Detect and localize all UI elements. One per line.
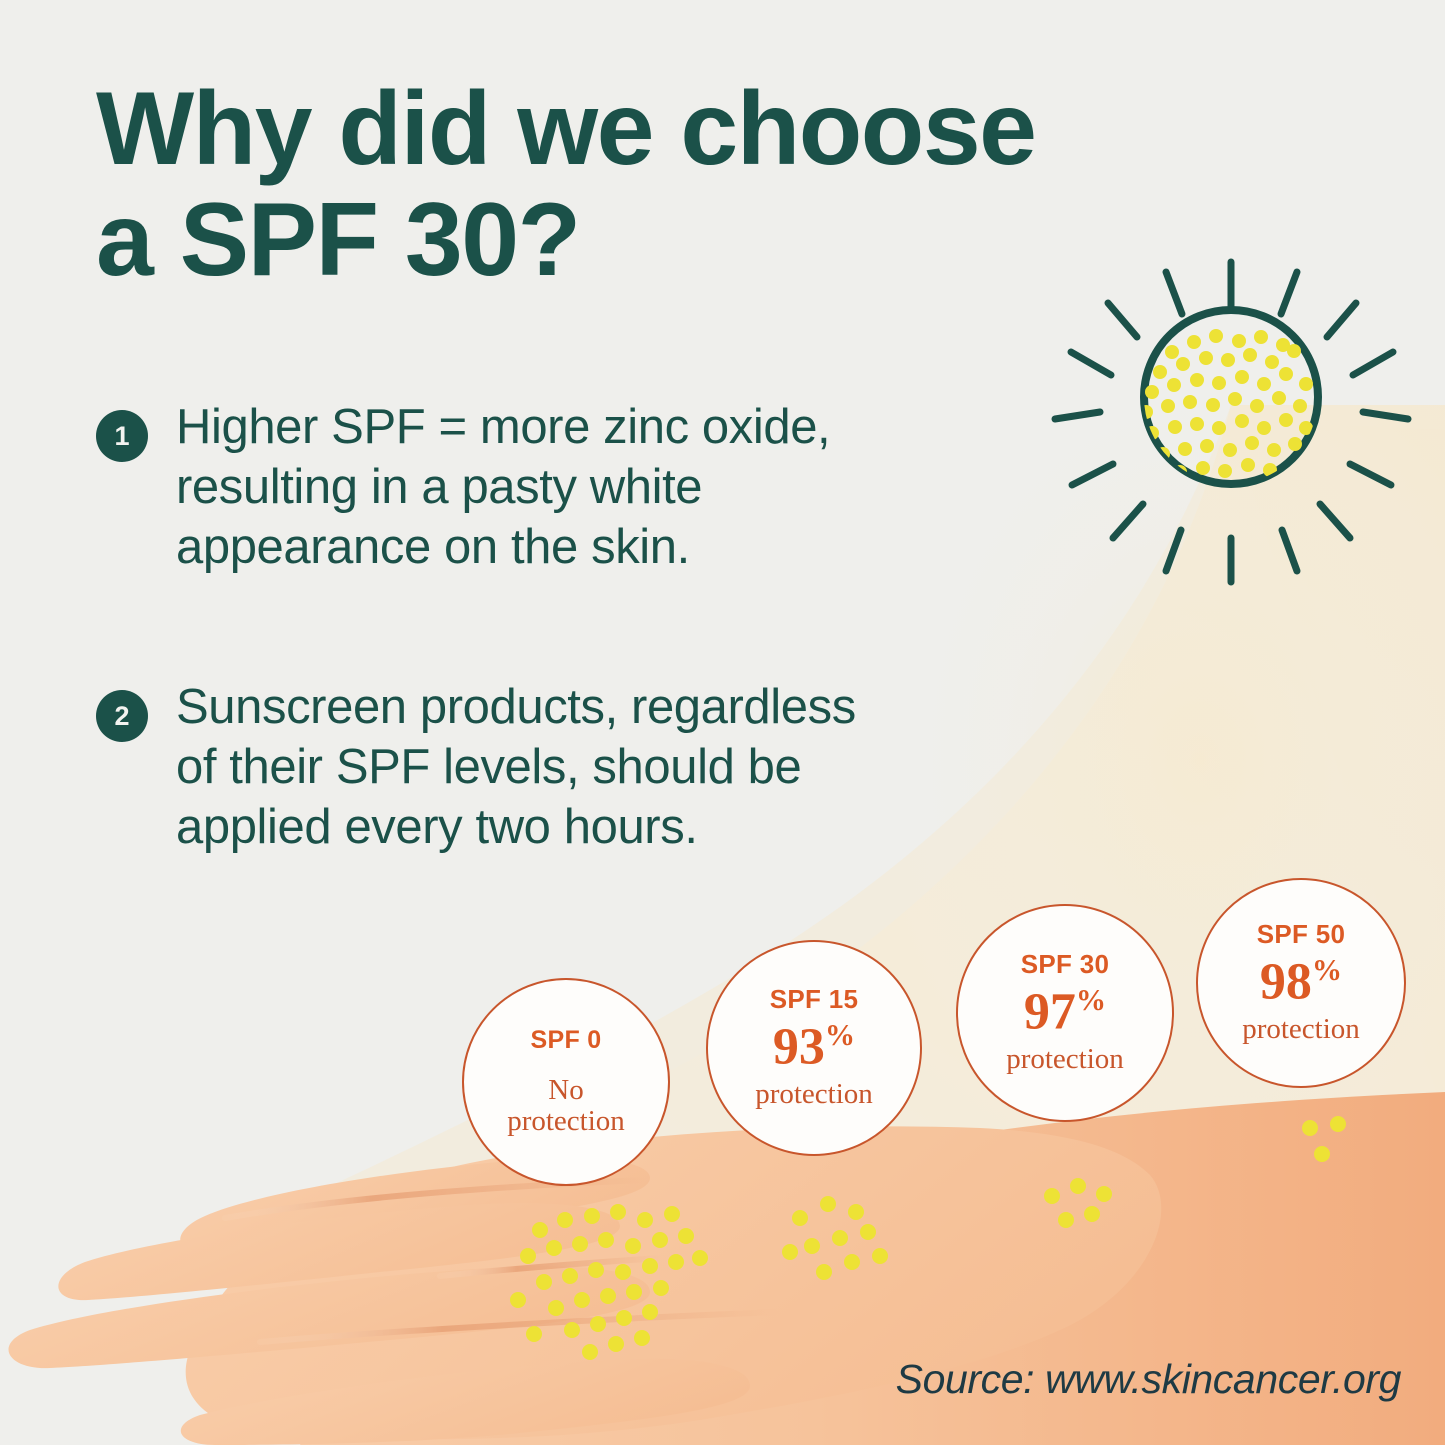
list-item-2-text: Sunscreen products, regardless of their … xyxy=(176,678,856,857)
source-citation: Source: www.skincancer.org xyxy=(896,1356,1401,1403)
spf-bubble-30-percent: 97% xyxy=(1024,985,1106,1038)
spf-bubble-30-value: 97 xyxy=(1024,983,1076,1040)
spf-bubble-50: SPF 50 98% protection xyxy=(1196,878,1406,1088)
page-title: Why did we choose a SPF 30? xyxy=(96,74,1236,297)
spf-bubble-50-sub: protection xyxy=(1242,1014,1360,1044)
spf-bubble-50-value: 98 xyxy=(1260,953,1312,1010)
spf-bubble-15: SPF 15 93% protection xyxy=(706,940,922,1156)
spf-bubble-50-symbol: % xyxy=(1312,953,1342,987)
spf-bubble-30-sub: protection xyxy=(1006,1044,1124,1074)
spf-bubble-15-symbol: % xyxy=(825,1018,855,1052)
spf-bubble-15-percent: 93% xyxy=(773,1020,855,1073)
spf-bubble-15-value: 93 xyxy=(773,1018,825,1075)
spf-bubble-0: SPF 0 No protection xyxy=(462,978,670,1186)
list-number-badge-1: 1 xyxy=(96,410,148,462)
spf-bubble-0-label: SPF 0 xyxy=(531,1028,602,1053)
spf-bubble-15-label: SPF 15 xyxy=(770,986,859,1012)
list-item-1-text: Higher SPF = more zinc oxide, resulting … xyxy=(176,398,830,577)
list-item-2: 2 Sunscreen products, regardless of thei… xyxy=(96,678,1126,857)
spf-bubble-30-label: SPF 30 xyxy=(1021,951,1110,977)
spf-bubble-30: SPF 30 97% protection xyxy=(956,904,1174,1122)
spf-bubble-50-percent: 98% xyxy=(1260,955,1342,1008)
list-number-badge-2: 2 xyxy=(96,690,148,742)
spf-bubble-30-symbol: % xyxy=(1076,983,1106,1017)
spf-bubble-15-sub: protection xyxy=(755,1079,873,1109)
list-item-1: 1 Higher SPF = more zinc oxide, resultin… xyxy=(96,398,1056,577)
spf-bubble-50-label: SPF 50 xyxy=(1257,921,1346,947)
spf-bubble-0-sub: No protection xyxy=(507,1075,625,1136)
infographic-poster: Why did we choose a SPF 30? 1 Higher SPF… xyxy=(0,0,1445,1445)
